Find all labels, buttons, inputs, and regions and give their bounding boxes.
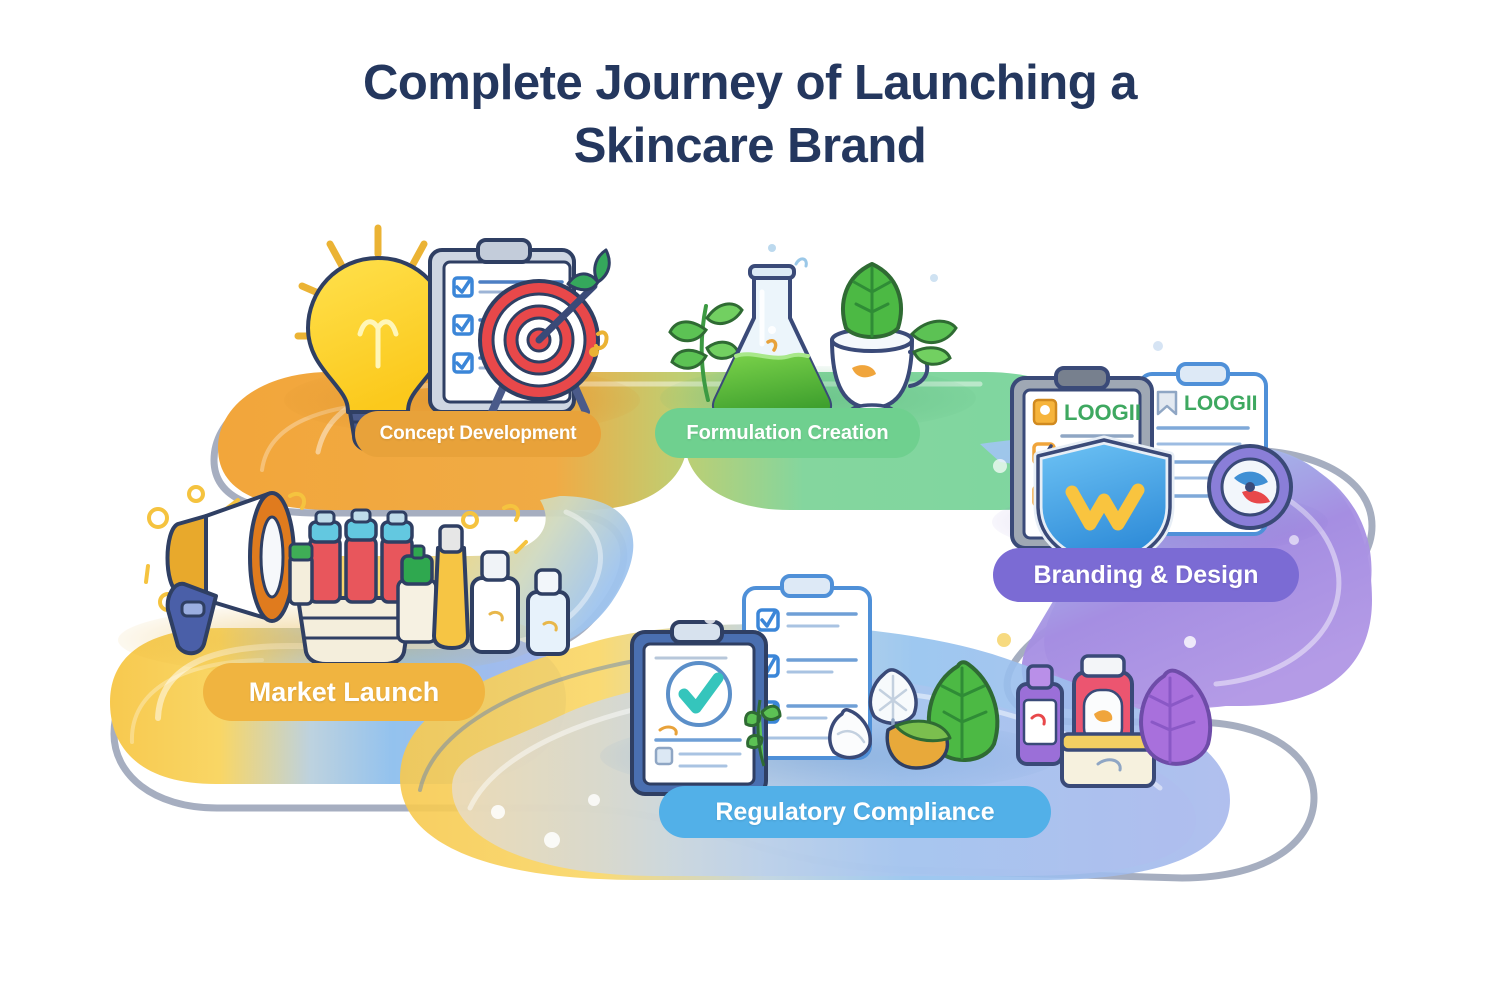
compliance-bubble-3-icon (1184, 636, 1196, 648)
branding-bubble-3-icon (1289, 535, 1299, 545)
infographic-canvas: Complete Journey of Launching a Skincare… (0, 0, 1500, 1000)
stage-label-formulation-creation[interactable]: Formulation Creation (655, 408, 920, 458)
stage-label-regulatory-compliance[interactable]: Regulatory Compliance (659, 786, 1051, 838)
second-logo-text: LOOGII (1184, 392, 1258, 415)
green-pump-nozzle-icon (412, 546, 424, 558)
award-badge-center-icon (1245, 482, 1255, 492)
cosmetic-bottle-cap-icon (1028, 666, 1052, 688)
compliance-bubble-7-icon (1241, 795, 1255, 809)
formulation-sparkle-2-icon (768, 244, 776, 252)
formulation-sparkle-3-icon (930, 274, 938, 282)
cream-box-lid-icon (1062, 734, 1154, 750)
compliance-bubble-5-icon (491, 805, 505, 819)
stage-label-branding-design[interactable]: Branding & Design (993, 548, 1299, 602)
blue-bottle-cap-icon (536, 570, 560, 594)
branding-bubble-4-icon (1153, 341, 1163, 351)
approved-clipboard-clip-icon (672, 622, 722, 642)
checklist-clipboard-clip-icon (782, 576, 832, 596)
compliance-bubble-2-icon (997, 633, 1011, 647)
green-pump-cap-icon (402, 556, 432, 584)
compliance-bubble-6-icon (588, 794, 600, 806)
branding-bubble-1-icon (993, 459, 1007, 473)
flask-neck-rim-icon (750, 266, 794, 278)
cup-side-leaf-right-2-icon (914, 348, 950, 365)
cosmetic-bottle-label-icon (1024, 700, 1056, 744)
formulation-sparkle-1-icon (796, 259, 806, 266)
logo-clipboard-clip-icon (1056, 368, 1108, 388)
megaphone-bell-inner-icon (261, 517, 283, 597)
white-bottle-icon (472, 578, 518, 652)
green-tube-cap-icon (290, 544, 312, 560)
stage-label-concept-development[interactable]: Concept Development (355, 411, 601, 457)
compliance-bubble-1-icon (704, 612, 716, 624)
megaphone-grip-icon (182, 602, 204, 616)
cup-side-leaf-right-icon (912, 321, 956, 342)
clipboard-clip-icon (478, 240, 530, 262)
second-clipboard-clip-icon (1178, 364, 1228, 384)
green-tube-icon (290, 556, 312, 604)
logo-text: LOOGII (1064, 400, 1141, 425)
stage-label-market-launch[interactable]: Market Launch (203, 663, 485, 721)
branding-bubble-2-icon (1312, 438, 1324, 450)
basket-icon (298, 598, 412, 664)
yellow-bottle-icon (434, 548, 468, 648)
green-pump-bottle-icon (398, 580, 436, 642)
sparkle-dot-icon (589, 347, 599, 357)
cosmetic-jar-lid-icon (1082, 656, 1124, 676)
logo-mark-dot-icon (1040, 405, 1050, 415)
white-bottle-cap-icon (482, 552, 508, 580)
flask-bubble-icon (768, 326, 776, 334)
compliance-bubble-4-icon (544, 832, 560, 848)
journey-diagram: LOOGII LOOGII (0, 0, 1500, 1000)
yellow-bottle-cap-icon (440, 526, 462, 552)
